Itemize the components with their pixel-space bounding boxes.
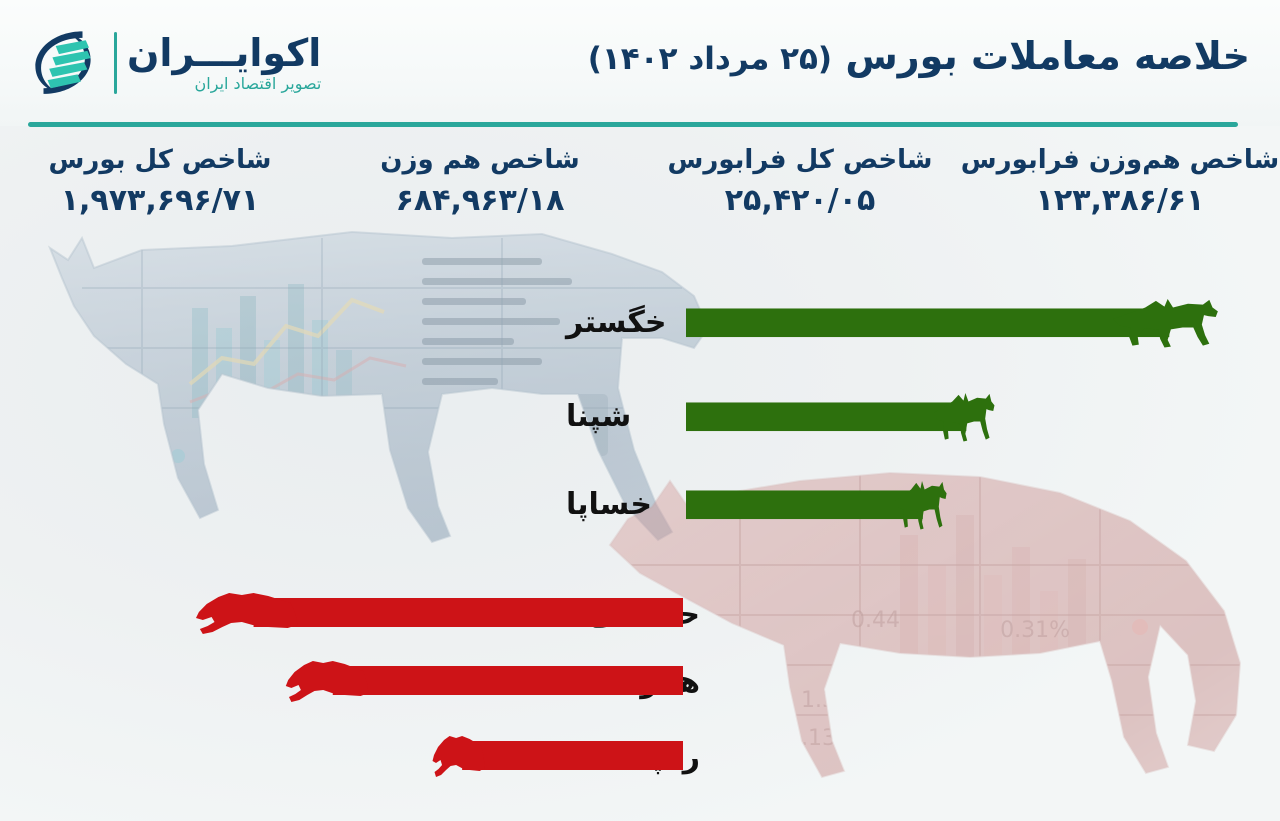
chart-row-gainer: خگستر [0, 298, 1280, 384]
stat-value: ۶۸۴,۹۶۳/۱۸ [320, 181, 640, 220]
bar-loser-1[interactable] [195, 592, 683, 640]
logo-divider [114, 32, 117, 94]
stat-card-equal-weight-index: شاخص هم وزن ۶۸۴,۹۶۳/۱۸ [320, 140, 640, 252]
chart-row-loser: رمپنا [0, 735, 1280, 813]
stat-label: شاخص هم وزن [320, 144, 640, 177]
bar-gainer-1[interactable] [686, 298, 1220, 348]
stat-value: ۱۲۳,۳۸۶/۶۱ [960, 181, 1280, 220]
bar-label: شپنا [566, 394, 676, 440]
stat-card-total-index: شاخص کل بورس ۱,۹۷۳,۶۹۶/۷۱ [0, 140, 320, 252]
stat-label: شاخص کل بورس [0, 144, 320, 177]
stat-value: ۲۵,۴۲۰/۰۵ [640, 181, 960, 220]
brand-name: اکوایـــران [127, 34, 321, 74]
index-stats-row: شاخص کل بورس ۱,۹۷۳,۶۹۶/۷۱ شاخص هم وزن ۶۸… [0, 140, 1280, 252]
header-bar: اکوایـــران تصویر اقتصاد ایران خلاصه معا… [0, 0, 1280, 126]
bar-label: خگستر [566, 300, 676, 346]
bar-loser-3[interactable] [432, 735, 683, 783]
bar-label: خساپا [566, 482, 676, 528]
stat-value: ۱,۹۷۳,۶۹۶/۷۱ [0, 181, 320, 220]
brand-logo[interactable]: اکوایـــران تصویر اقتصاد ایران [22, 24, 321, 102]
infographic-canvas: 0.44 0.38 1.3 0.13 0.4 0.31% [0, 0, 1280, 821]
bar-loser-2[interactable] [285, 660, 683, 708]
stat-label: شاخص کل فرابورس [640, 144, 960, 177]
stat-card-farabourse-equal-weight-index: شاخص هم‌وزن فرابورس ۱۲۳,۳۸۶/۶۱ [960, 140, 1280, 252]
bar-gainer-3[interactable] [686, 480, 948, 530]
page-title-date: (۲۵ مرداد ۱۴۰۲) [588, 41, 832, 77]
chart-row-loser: حکشتی [0, 592, 1280, 670]
bar-gainer-2[interactable] [686, 392, 996, 442]
chart-row-gainer: خساپا [0, 480, 1280, 566]
stat-card-farabourse-index: شاخص کل فرابورس ۲۵,۴۲۰/۰۵ [640, 140, 960, 252]
stat-label: شاخص هم‌وزن فرابورس [960, 144, 1280, 177]
impact-bar-chart: خگستر شپنا [0, 252, 1280, 821]
page-title-main: خلاصه معاملات بورس [845, 34, 1250, 78]
eghtesad-swoosh-logo-icon [22, 24, 104, 102]
header-divider [28, 122, 1238, 127]
page-title: خلاصه معاملات بورس (۲۵ مرداد ۱۴۰۲) [588, 34, 1250, 78]
chart-row-loser: همراه [0, 660, 1280, 738]
brand-tagline: تصویر اقتصاد ایران [195, 76, 322, 92]
chart-row-gainer: شپنا [0, 392, 1280, 478]
